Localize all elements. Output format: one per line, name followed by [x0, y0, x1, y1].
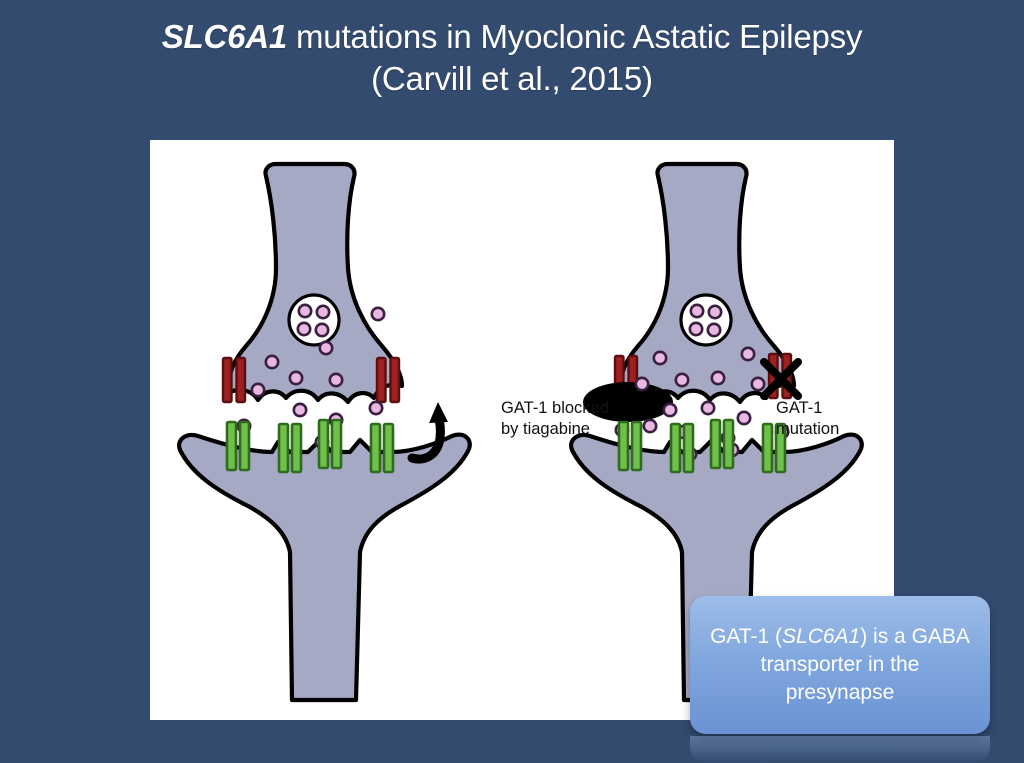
title-line-2: (Carvill et al., 2015): [0, 58, 1024, 100]
gat1-info-callout[interactable]: GAT-1 (SLC6A1) is a GABA transporter in …: [690, 596, 990, 734]
title-line-1: SLC6A1 mutations in Myoclonic Astatic Ep…: [0, 16, 1024, 58]
synaptic-vesicle-left: [289, 295, 339, 345]
tiagabine-block-label: GAT-1 blocked by tiagabine: [501, 398, 609, 440]
title-line-1-rest: mutations in Myoclonic Astatic Epilepsy: [287, 18, 862, 55]
normal-synapse-panel: [179, 164, 470, 700]
title-gene-name: SLC6A1: [162, 18, 287, 55]
callout-text-before-gene: GAT-1 (: [710, 625, 782, 648]
page-title: SLC6A1 mutations in Myoclonic Astatic Ep…: [0, 16, 1024, 100]
callout-text: GAT-1 (SLC6A1) is a GABA transporter in …: [706, 623, 974, 706]
callout-reflection: [690, 736, 990, 763]
callout-gene-name: SLC6A1: [782, 625, 860, 648]
postsynaptic-spine-left: [179, 435, 470, 700]
gat1-mutation-label: GAT-1 mutation: [776, 398, 839, 440]
synaptic-vesicle-right: [681, 295, 731, 345]
